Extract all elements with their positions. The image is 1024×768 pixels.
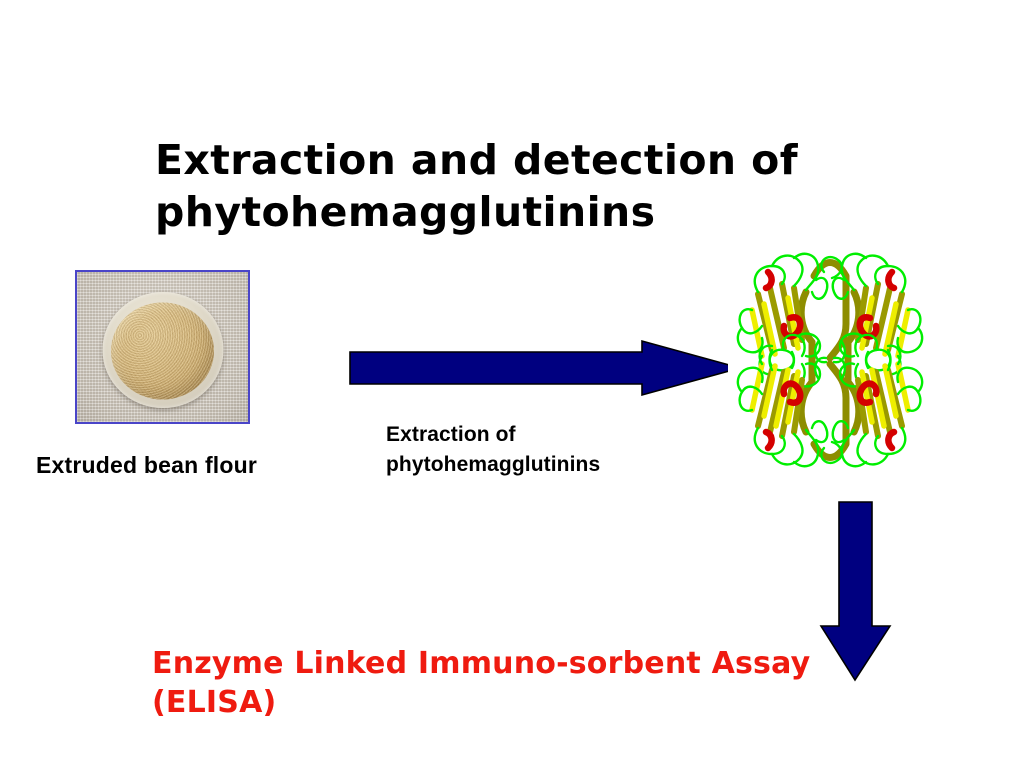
bean-flour-caption: Extruded bean flour: [36, 452, 257, 479]
extraction-arrow-right: [345, 332, 745, 404]
extraction-arrow-label: Extraction of phytohemagglutinins: [386, 420, 600, 480]
arrow-right-icon: [350, 341, 740, 395]
bean-flour-powder: [111, 303, 214, 400]
phytohemagglutinin-structure-image: [728, 232, 932, 488]
bean-flour-photo: [75, 270, 250, 424]
slide-canvas: Extraction and detection of phytohemaggl…: [0, 0, 1024, 768]
protein-ribbon-diagram: [728, 232, 932, 488]
petri-dish: [102, 292, 223, 408]
elisa-label: Enzyme Linked Immuno-sorbent Assay (ELIS…: [152, 645, 912, 722]
page-title: Extraction and detection of phytohemaggl…: [155, 134, 855, 239]
flour-texture: [111, 303, 214, 400]
